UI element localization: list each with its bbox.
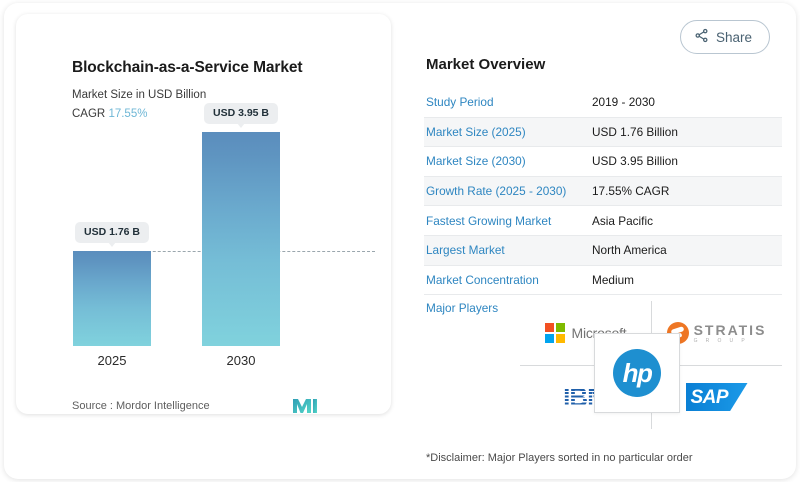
table-row: Largest MarketNorth America xyxy=(424,236,782,266)
overview-title: Market Overview xyxy=(426,56,545,73)
table-row: Market Size (2030)USD 3.95 Billion xyxy=(424,147,782,177)
bar-2030[interactable] xyxy=(202,132,280,346)
chart-panel: Blockchain-as-a-Service Market Market Si… xyxy=(16,14,391,414)
share-nodes-icon xyxy=(694,28,709,46)
microsoft-squares-icon xyxy=(545,323,565,343)
row-value: 2019 - 2030 xyxy=(592,95,655,109)
table-row: Growth Rate (2025 - 2030)17.55% CAGR xyxy=(424,177,782,207)
row-value: USD 1.76 Billion xyxy=(592,125,678,139)
row-key: Fastest Growing Market xyxy=(424,214,592,228)
stratis-name: STRATIS xyxy=(694,323,767,337)
market-overview-panel: Share Market Overview Study Period2019 -… xyxy=(412,14,780,470)
major-players-label: Major Players xyxy=(426,301,498,315)
chart-subtitle: Market Size in USD Billion xyxy=(72,89,206,101)
stratis-logo: STRATIS G R O U P xyxy=(667,322,767,344)
player-cell-hp[interactable]: hp xyxy=(594,333,680,413)
mordor-intelligence-logo xyxy=(292,398,318,414)
row-value: Medium xyxy=(592,273,634,287)
row-key: Market Size (2030) xyxy=(424,154,592,168)
bar-2025[interactable] xyxy=(73,251,151,346)
hp-wordmark: hp xyxy=(623,360,652,386)
row-value: Asia Pacific xyxy=(592,214,653,228)
row-key: Market Concentration xyxy=(424,273,592,287)
overview-table: Study Period2019 - 2030Market Size (2025… xyxy=(424,88,782,295)
share-button-label: Share xyxy=(716,30,752,45)
row-key: Market Size (2025) xyxy=(424,125,592,139)
row-key: Largest Market xyxy=(424,243,592,257)
row-value: USD 3.95 Billion xyxy=(592,154,678,168)
row-key: Study Period xyxy=(424,95,592,109)
screenshot-root: Blockchain-as-a-Service Market Market Si… xyxy=(0,0,800,482)
table-row: Market Size (2025)USD 1.76 Billion xyxy=(424,118,782,148)
cagr-value: 17.55% xyxy=(108,108,147,120)
chart-cagr: CAGR 17.55% xyxy=(72,108,147,120)
share-button[interactable]: Share xyxy=(680,20,770,54)
row-key: Growth Rate (2025 - 2030) xyxy=(424,184,592,198)
bar-label-2030: USD 3.95 B xyxy=(204,103,278,124)
table-row: Market ConcentrationMedium xyxy=(424,266,782,296)
x-axis-label-2025: 2025 xyxy=(67,353,157,368)
row-value: 17.55% CAGR xyxy=(592,184,669,198)
table-row: Fastest Growing MarketAsia Pacific xyxy=(424,206,782,236)
x-axis-label-2030: 2030 xyxy=(196,353,286,368)
chart-plot-area: USD 1.76 B USD 3.95 B 2025 2030 xyxy=(32,124,375,364)
sap-wordmark: SAP xyxy=(691,387,729,409)
stratis-subtitle: G R O U P xyxy=(694,339,767,344)
chart-source: Source : Mordor Intelligence xyxy=(72,400,210,412)
hp-logo: hp xyxy=(613,349,661,397)
sap-logo: SAP xyxy=(686,383,748,411)
bar-label-2025: USD 1.76 B xyxy=(75,222,149,243)
row-value: North America xyxy=(592,243,667,257)
cagr-label: CAGR xyxy=(72,108,105,120)
major-players-grid: Microsoft STRATIS G R O U P IBM S xyxy=(520,301,782,429)
chart-title: Blockchain-as-a-Service Market xyxy=(72,59,302,77)
table-row: Study Period2019 - 2030 xyxy=(424,88,782,118)
stratis-wordmark: STRATIS G R O U P xyxy=(694,323,767,344)
disclaimer-text: *Disclaimer: Major Players sorted in no … xyxy=(426,452,693,464)
